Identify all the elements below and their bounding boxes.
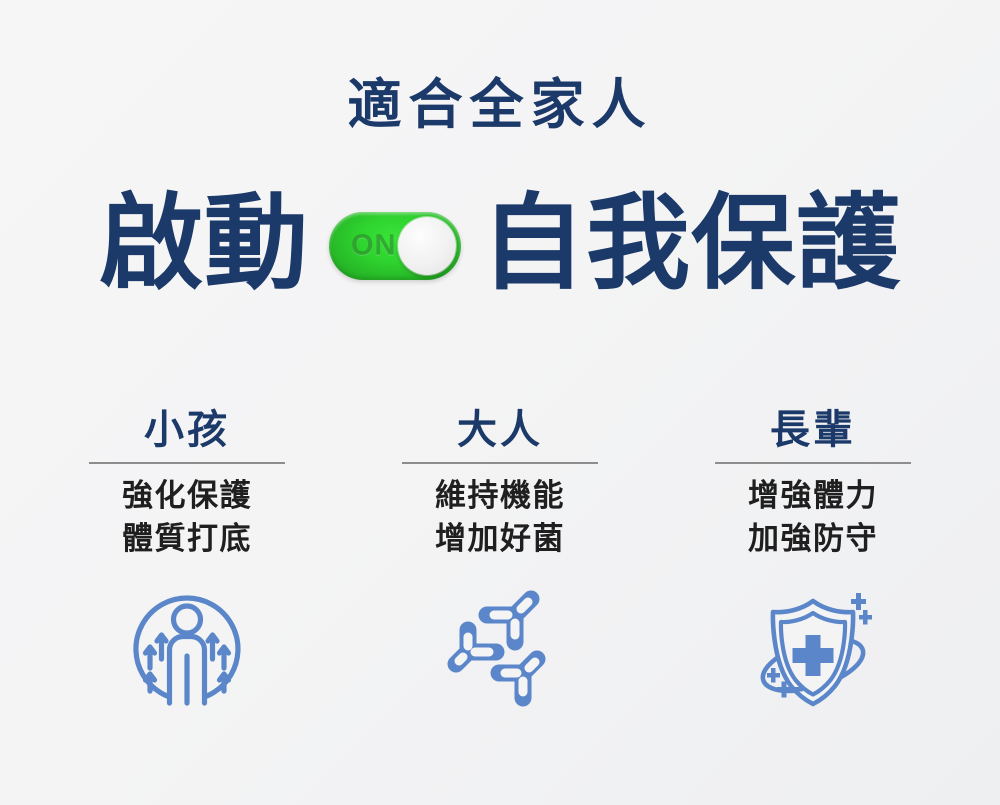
benefit-column-children: 小孩 強化保護 體質打底 xyxy=(58,408,316,714)
column-divider xyxy=(715,462,911,464)
benefit-columns: 小孩 強化保護 體質打底 xyxy=(0,408,1000,714)
description-line-2: 加強防守 xyxy=(748,518,878,561)
column-title-children: 小孩 xyxy=(144,408,230,453)
description-line-1: 強化保護 xyxy=(122,475,252,518)
description-line-1: 維持機能 xyxy=(435,475,565,518)
column-title-elderly: 長輩 xyxy=(770,408,856,453)
toggle-on-label: ON xyxy=(351,232,397,261)
description-line-1: 增強體力 xyxy=(748,475,878,518)
eyebrow-headline: 適合全家人 xyxy=(0,78,1000,132)
hero-word-after: 自我保護 xyxy=(481,192,901,296)
column-description-adults: 維持機能 增加好菌 xyxy=(435,475,565,561)
benefit-column-elderly: 長輩 增強體力 加強防守 xyxy=(684,408,942,714)
toggle-knob[interactable] xyxy=(398,217,456,275)
person-in-circle-with-up-arrows-icon xyxy=(122,584,252,714)
column-description-elderly: 增強體力 加強防守 xyxy=(748,475,878,561)
promo-banner: 適合全家人 啟動 ON 自我保護 小孩 強化保護 體質打底 xyxy=(0,0,1000,805)
column-divider xyxy=(402,462,598,464)
hero-word-before: 啟動 xyxy=(99,192,309,296)
description-line-2: 體質打底 xyxy=(122,518,252,561)
column-divider xyxy=(89,462,285,464)
shield-with-cross-icon xyxy=(748,584,878,714)
probiotic-bacteria-icon xyxy=(435,584,565,714)
column-description-children: 強化保護 體質打底 xyxy=(122,475,252,561)
column-title-adults: 大人 xyxy=(457,408,543,453)
on-toggle-switch[interactable]: ON xyxy=(329,212,461,280)
benefit-column-adults: 大人 維持機能 增加好菌 xyxy=(371,408,629,714)
description-line-2: 增加好菌 xyxy=(435,518,565,561)
hero-headline-row: 啟動 ON 自我保護 xyxy=(0,186,1000,306)
